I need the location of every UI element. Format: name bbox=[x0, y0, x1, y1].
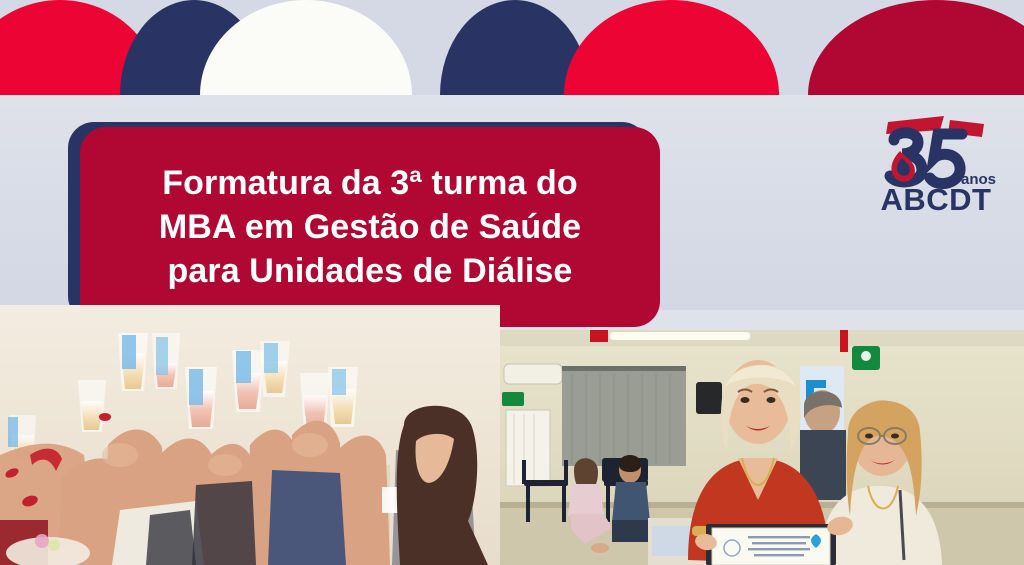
photo-toast-champagne bbox=[0, 305, 500, 565]
title-plaque: Formatura da 3ª turma do MBA em Gestão d… bbox=[68, 122, 660, 327]
event-announcement-banner: Formatura da 3ª turma do MBA em Gestão d… bbox=[0, 0, 1024, 565]
decorative-dome-band bbox=[0, 0, 1024, 95]
logo-acronym-text: ABCDT bbox=[881, 182, 992, 216]
certificate bbox=[706, 524, 836, 565]
title-plaque-box: Formatura da 3ª turma do MBA em Gestão d… bbox=[80, 127, 660, 327]
abcdt-35-anos-logo: anos ABCDT bbox=[866, 104, 1006, 216]
dome-red-2 bbox=[564, 0, 779, 95]
page-title: Formatura da 3ª turma do MBA em Gestão d… bbox=[143, 161, 597, 294]
photo-certificate-award bbox=[500, 330, 1024, 565]
dome-crimson-1 bbox=[808, 0, 1024, 95]
